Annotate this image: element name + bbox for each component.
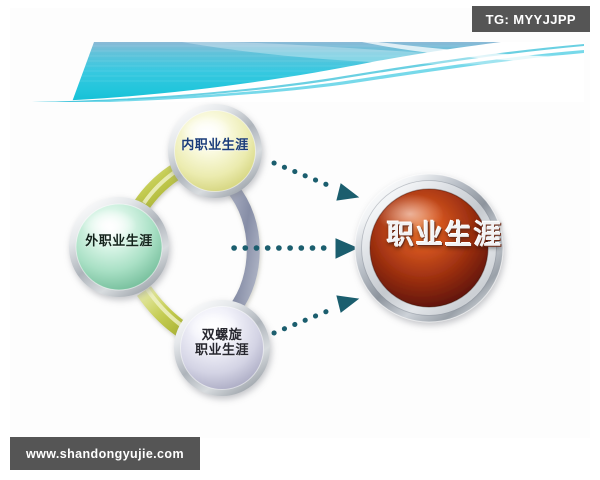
node-career-path: [355, 174, 503, 322]
node-outer-career: [69, 197, 169, 297]
telegram-tag-badge: TG: MYYJJPP: [472, 6, 590, 32]
slide-page: 内职业生涯 外职业生涯 双螺旋 职业生涯 职业生涯: [10, 8, 590, 438]
website-watermark-badge: www.shandongyujie.com: [10, 437, 200, 470]
node-double-helix-career: [174, 300, 270, 396]
arrow-inner-to-target: [274, 163, 358, 200]
node-inner-career: [168, 104, 262, 198]
slide-root: 内职业生涯 外职业生涯 双螺旋 职业生涯 职业生涯 TG: MYYJJPP ww…: [0, 0, 600, 480]
career-diagram: [10, 8, 590, 438]
arrow-helix-to-target: [274, 296, 358, 333]
